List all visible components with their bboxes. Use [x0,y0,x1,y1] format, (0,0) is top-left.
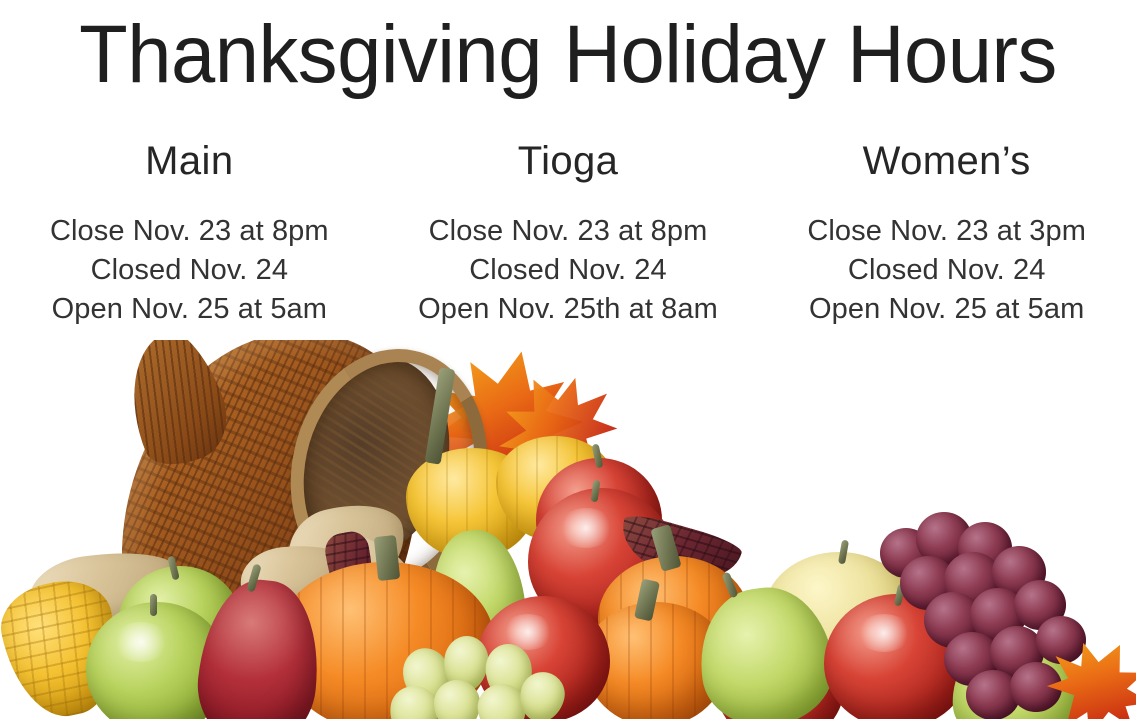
location-name-main: Main [0,136,379,186]
locations-container: Main Close Nov. 23 at 8pm Closed Nov. 24… [0,136,1136,329]
hours-line: Closed Nov. 24 [379,251,758,290]
red-grape [1036,616,1086,664]
hours-line: Open Nov. 25 at 5am [757,290,1136,329]
hours-line: Close Nov. 23 at 8pm [0,212,379,251]
location-name-tioga: Tioga [379,136,758,186]
pumpkin-stem [374,535,400,581]
cornucopia-photo [0,340,1136,719]
green-grape [434,680,480,719]
hours-line: Closed Nov. 24 [757,251,1136,290]
hours-line: Closed Nov. 24 [0,251,379,290]
thanksgiving-holiday-hours-poster: Thanksgiving Holiday Hours Main Close No… [0,0,1136,719]
hours-line: Close Nov. 23 at 8pm [379,212,758,251]
hours-line: Open Nov. 25th at 8am [379,290,758,329]
hours-list-main: Close Nov. 23 at 8pm Closed Nov. 24 Open… [0,212,379,329]
photo-stage [0,340,1136,719]
hours-list-womens: Close Nov. 23 at 3pm Closed Nov. 24 Open… [757,212,1136,329]
location-column-main: Main Close Nov. 23 at 8pm Closed Nov. 24… [0,136,379,329]
hours-line: Open Nov. 25 at 5am [0,290,379,329]
location-name-womens: Women’s [757,136,1136,186]
hours-list-tioga: Close Nov. 23 at 8pm Closed Nov. 24 Open… [379,212,758,329]
apple-stem [150,594,157,616]
page-title: Thanksgiving Holiday Hours [17,14,1119,96]
hours-line: Close Nov. 23 at 3pm [757,212,1136,251]
location-column-womens: Women’s Close Nov. 23 at 3pm Closed Nov.… [757,136,1136,329]
location-column-tioga: Tioga Close Nov. 23 at 8pm Closed Nov. 2… [379,136,758,329]
